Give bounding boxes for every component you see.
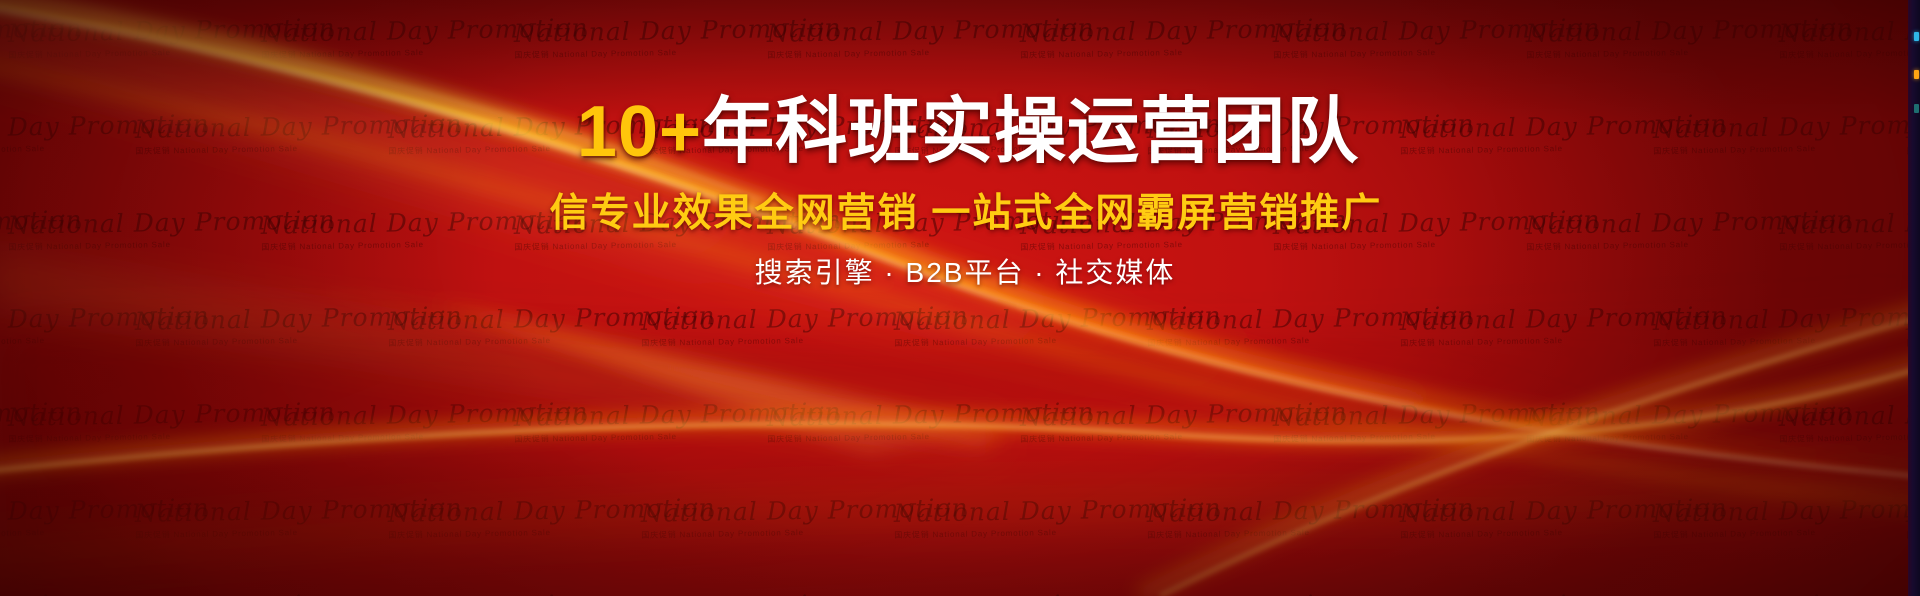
edge-indicator-cyan-icon — [1914, 32, 1919, 41]
headline: 10+年科班实操运营团队 — [577, 96, 1359, 168]
headline-number: 10+ — [577, 92, 702, 172]
headline-text: 年科班实操运营团队 — [702, 92, 1359, 172]
banner-copy: 10+年科班实操运营团队 信专业效果全网营销 一站式全网霸屏营销推广 搜索引擎 … — [0, 0, 1920, 596]
channel-list: 搜索引擎 · B2B平台 · 社交媒体 — [755, 259, 1176, 287]
edge-indicator-teal-icon — [1914, 104, 1919, 113]
edge-indicator-orange-icon — [1914, 70, 1919, 79]
right-edge-strip — [1908, 0, 1920, 596]
subheadline: 信专业效果全网营销 一站式全网霸屏营销推广 — [550, 194, 1383, 233]
promotional-banner: National Day Promotion国庆促销 National Day … — [0, 0, 1920, 596]
